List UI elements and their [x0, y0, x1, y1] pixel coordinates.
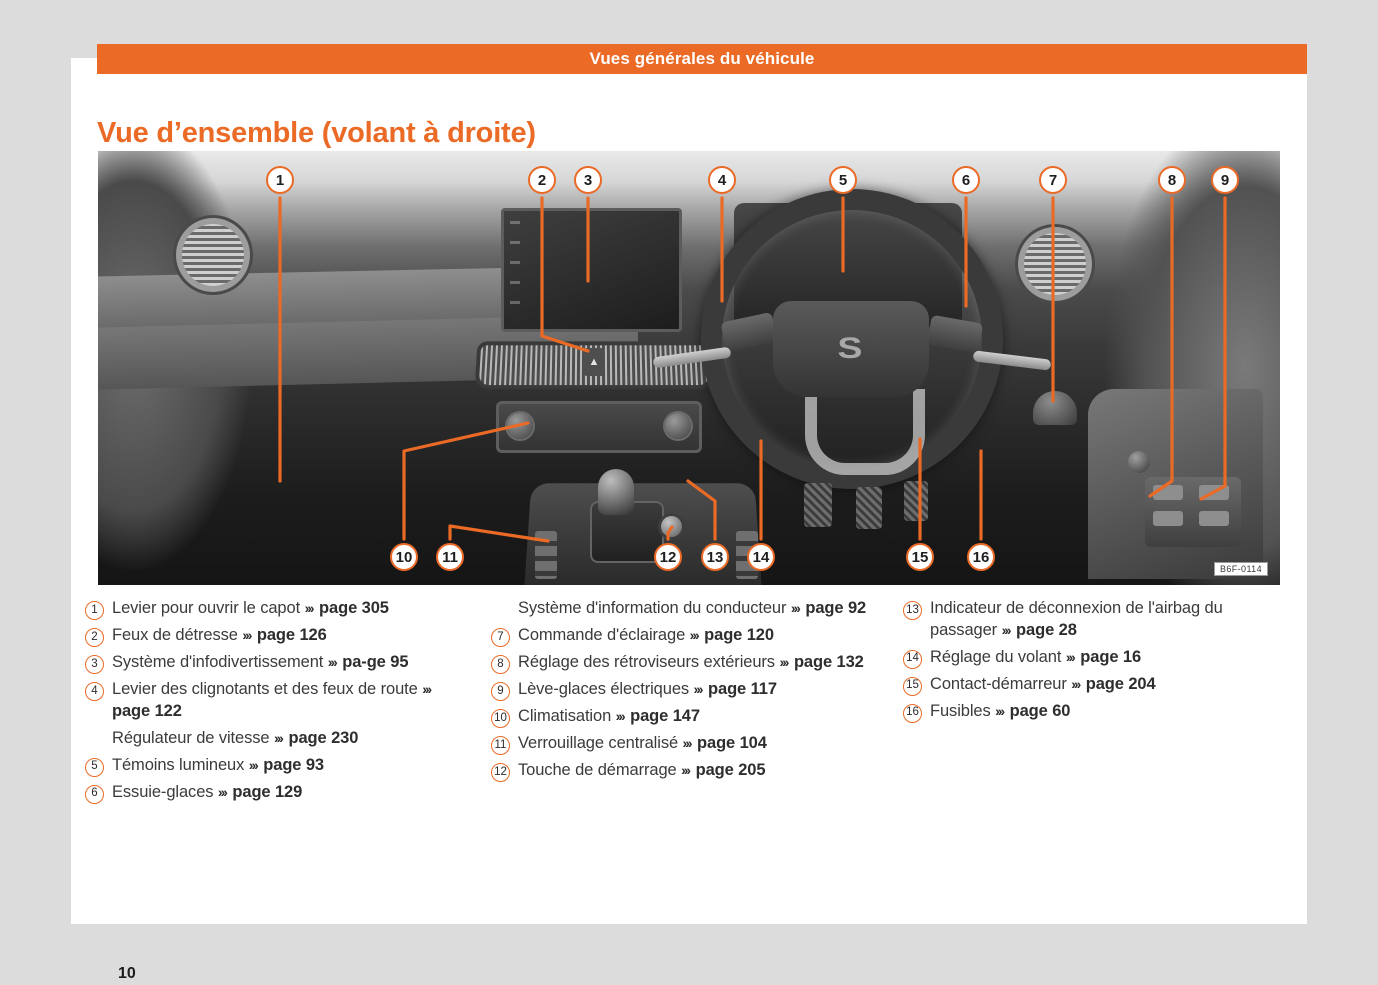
legend-item-page-reference[interactable]: page 204 — [1086, 675, 1156, 693]
legend-item-page-reference[interactable]: page 16 — [1080, 648, 1141, 666]
window-switch-panel — [1145, 477, 1241, 547]
light-rotary-switch — [1033, 391, 1077, 425]
legend-item[interactable]: Système d'information du conducteur ››› … — [491, 598, 877, 620]
legend-item-text: Régulateur de vitesse ››› page 230 — [112, 728, 358, 750]
legend-item-label: Touche de démarrage — [518, 761, 681, 779]
legend-item-text: Levier des clignotants et des feux de ro… — [112, 679, 469, 723]
legend-item-page-reference[interactable]: page 28 — [1016, 621, 1077, 639]
chevron-right-icon: ››› — [681, 762, 691, 778]
legend-item-page-reference[interactable]: page 117 — [708, 680, 777, 698]
callout-5[interactable]: 5 — [829, 166, 857, 194]
legend-item-text: Feux de détresse ››› page 126 — [112, 625, 327, 647]
legend-item-number: 11 — [491, 736, 510, 755]
chevron-right-icon: ››› — [690, 627, 700, 643]
callout-8[interactable]: 8 — [1158, 166, 1186, 194]
chevron-right-icon: ››› — [249, 757, 259, 773]
callout-9[interactable]: 9 — [1211, 166, 1239, 194]
callout-12[interactable]: 12 — [654, 543, 682, 571]
legend-item[interactable]: 11Verrouillage centralisé ››› page 104 — [491, 733, 877, 755]
climate-knob-right — [665, 413, 691, 439]
legend-item[interactable]: 6Essuie-glaces ››› page 129 — [85, 782, 469, 804]
chevron-right-icon: ››› — [1002, 622, 1012, 638]
air-vent-icon-right — [1024, 233, 1086, 295]
legend-item-number: 10 — [491, 709, 510, 728]
legend-item-page-reference[interactable]: page 120 — [704, 626, 774, 644]
legend-item-label: Climatisation — [518, 707, 616, 725]
legend-item-page-reference[interactable]: page 129 — [232, 783, 302, 801]
legend-item-text: Commande d'éclairage ››› page 120 — [518, 625, 774, 647]
climate-knob-left — [507, 413, 533, 439]
legend-item-text: Levier pour ouvrir le capot ››› page 305 — [112, 598, 389, 620]
legend-item[interactable]: Régulateur de vitesse ››› page 230 — [85, 728, 469, 750]
legend-column-2: Système d'information du conducteur ››› … — [483, 598, 891, 809]
legend-item-text: Réglage du volant ››› page 16 — [930, 647, 1141, 669]
running-header-bar: Vues générales du véhicule — [97, 44, 1307, 74]
legend-item-label: Régulateur de vitesse — [112, 729, 274, 747]
brake-pedal — [856, 487, 882, 529]
callout-1[interactable]: 1 — [266, 166, 294, 194]
legend-item[interactable]: 8Réglage des rétroviseurs extérieurs ›››… — [491, 652, 877, 674]
legend-item[interactable]: 13Indicateur de déconnexion de l'airbag … — [903, 598, 1285, 642]
legend-item[interactable]: 7Commande d'éclairage ››› page 120 — [491, 625, 877, 647]
window-switch-2 — [1199, 485, 1229, 500]
steering-wheel-lower-spoke — [805, 389, 925, 475]
steering-wheel-hub: S — [773, 301, 929, 397]
callout-11[interactable]: 11 — [436, 543, 464, 571]
legend-item-label: Témoins lumineux — [112, 756, 249, 774]
page-title: Vue d’ensemble (volant à droite) — [97, 117, 536, 150]
legend-item[interactable]: 9Lève-glaces électriques ››› page 117 — [491, 679, 877, 701]
legend-item-number: 5 — [85, 758, 104, 777]
legend-item[interactable]: 14Réglage du volant ››› page 16 — [903, 647, 1285, 669]
air-vent-icon-left — [182, 224, 244, 286]
chevron-right-icon: ››› — [1071, 676, 1081, 692]
legend: 1Levier pour ouvrir le capot ››› page 30… — [79, 598, 1299, 809]
accelerator-pedal — [904, 481, 928, 521]
manual-page: Vues générales du véhicule Vue d’ensembl… — [71, 58, 1307, 924]
legend-item-page-reference[interactable]: page 104 — [697, 734, 767, 752]
legend-item-number-placeholder — [85, 731, 104, 750]
legend-item[interactable]: 2Feux de détresse ››› page 126 — [85, 625, 469, 647]
infotainment-screen — [501, 208, 682, 332]
callout-4[interactable]: 4 — [708, 166, 736, 194]
legend-item-page-reference[interactable]: page 132 — [794, 653, 864, 671]
chevron-right-icon: ››› — [1066, 649, 1076, 665]
legend-item-text: Verrouillage centralisé ››› page 104 — [518, 733, 767, 755]
callout-14[interactable]: 14 — [747, 543, 775, 571]
callout-2[interactable]: 2 — [528, 166, 556, 194]
legend-item-page-reference[interactable]: page 122 — [112, 702, 182, 720]
chevron-right-icon: ››› — [218, 784, 228, 800]
legend-item[interactable]: 1Levier pour ouvrir le capot ››› page 30… — [85, 598, 469, 620]
legend-item-number: 15 — [903, 677, 922, 696]
chevron-right-icon: ››› — [305, 600, 315, 616]
legend-item-page-reference[interactable]: page 230 — [288, 729, 358, 747]
figure-reference-code: B6F-0114 — [1214, 562, 1268, 576]
legend-item-label: Système d'infodivertissement — [112, 653, 328, 671]
legend-item-text: Système d'infodivertissement ››› pa-ge 9… — [112, 652, 408, 674]
legend-item-number: 4 — [85, 682, 104, 701]
legend-column-3: 13Indicateur de déconnexion de l'airbag … — [891, 598, 1299, 809]
legend-item[interactable]: 10Climatisation ››› page 147 — [491, 706, 877, 728]
legend-item-page-reference[interactable]: page 93 — [263, 756, 324, 774]
legend-item-text: Essuie-glaces ››› page 129 — [112, 782, 302, 804]
legend-item-text: Fusibles ››› page 60 — [930, 701, 1070, 723]
console-switch-bank-left — [535, 531, 557, 579]
legend-item-label: Réglage des rétroviseurs extérieurs — [518, 653, 779, 671]
legend-item-text: Touche de démarrage ››› page 205 — [518, 760, 765, 782]
clutch-pedal — [804, 483, 832, 527]
callout-16[interactable]: 16 — [967, 543, 995, 571]
legend-item[interactable]: 16Fusibles ››› page 60 — [903, 701, 1285, 723]
chevron-right-icon: ››› — [683, 735, 693, 751]
legend-item-page-reference[interactable]: pa-ge 95 — [342, 653, 408, 671]
legend-item[interactable]: 3Système d'infodivertissement ››› pa-ge … — [85, 652, 469, 674]
legend-item-label: Lève-glaces électriques — [518, 680, 694, 698]
chevron-right-icon: ››› — [328, 654, 338, 670]
callout-10[interactable]: 10 — [390, 543, 418, 571]
legend-item-page-reference[interactable]: page 205 — [696, 761, 766, 779]
legend-item-text: Contact-démarreur ››› page 204 — [930, 674, 1156, 696]
chevron-right-icon: ››› — [274, 730, 284, 746]
legend-item-page-reference[interactable]: page 126 — [257, 626, 327, 644]
legend-item-page-reference[interactable]: page 92 — [805, 599, 866, 617]
callout-6[interactable]: 6 — [952, 166, 980, 194]
callout-15[interactable]: 15 — [906, 543, 934, 571]
legend-item[interactable]: 4Levier des clignotants et des feux de r… — [85, 679, 469, 723]
window-switch-4 — [1199, 511, 1229, 526]
window-switch-3 — [1153, 511, 1183, 526]
gear-lever-knob — [598, 469, 634, 515]
legend-column-1: 1Levier pour ouvrir le capot ››› page 30… — [79, 598, 483, 809]
legend-item-number: 16 — [903, 704, 922, 723]
dashboard-photo: ▲ S — [98, 151, 1280, 585]
legend-item-number: 13 — [903, 601, 922, 620]
steering-wheel: S — [701, 189, 1003, 489]
mirror-adjust-knob — [1128, 451, 1150, 473]
legend-item-label: Feux de détresse — [112, 626, 242, 644]
legend-item-text: Lève-glaces électriques ››› page 117 — [518, 679, 777, 701]
legend-item-page-reference[interactable]: page 60 — [1010, 702, 1071, 720]
dashboard-figure: ▲ S — [98, 151, 1280, 585]
legend-item-label: Fusibles — [930, 702, 995, 720]
chevron-right-icon: ››› — [694, 681, 704, 697]
legend-item-number: 3 — [85, 655, 104, 674]
legend-item-label: Contact-démarreur — [930, 675, 1071, 693]
legend-item-label: Essuie-glaces — [112, 783, 218, 801]
chevron-right-icon: ››› — [422, 681, 432, 697]
legend-item-page-reference[interactable]: page 305 — [319, 599, 389, 617]
chevron-right-icon: ››› — [242, 627, 252, 643]
engine-start-button — [661, 516, 682, 537]
legend-item[interactable]: 5Témoins lumineux ››› page 93 — [85, 755, 469, 777]
callout-3[interactable]: 3 — [574, 166, 602, 194]
legend-item-number: 1 — [85, 601, 104, 620]
page-number: 10 — [118, 965, 136, 983]
legend-item-number: 7 — [491, 628, 510, 647]
legend-item-label: Réglage du volant — [930, 648, 1066, 666]
legend-item-number-placeholder — [491, 601, 510, 620]
legend-item-number: 12 — [491, 763, 510, 782]
callout-7[interactable]: 7 — [1039, 166, 1067, 194]
legend-item-number: 6 — [85, 785, 104, 804]
legend-item-text: Système d'information du conducteur ››› … — [518, 598, 866, 620]
legend-item[interactable]: 12Touche de démarrage ››› page 205 — [491, 760, 877, 782]
legend-item-label: Levier pour ouvrir le capot — [112, 599, 305, 617]
legend-item-number: 14 — [903, 650, 922, 669]
window-switch-1 — [1153, 485, 1183, 500]
legend-item-text: Indicateur de déconnexion de l'airbag du… — [930, 598, 1285, 642]
climate-control-panel — [496, 401, 702, 453]
legend-item-number: 8 — [491, 655, 510, 674]
chevron-right-icon: ››› — [995, 703, 1005, 719]
legend-item-text: Climatisation ››› page 147 — [518, 706, 700, 728]
callout-13[interactable]: 13 — [701, 543, 729, 571]
hazard-lights-button: ▲ — [584, 348, 604, 376]
legend-item-label: Système d'information du conducteur — [518, 599, 791, 617]
chevron-right-icon: ››› — [791, 600, 801, 616]
legend-item-label: Commande d'éclairage — [518, 626, 690, 644]
infotainment-side-buttons — [510, 221, 520, 319]
legend-item-label: Verrouillage centralisé — [518, 734, 683, 752]
running-header-text: Vues générales du véhicule — [590, 49, 815, 69]
chevron-right-icon: ››› — [616, 708, 626, 724]
legend-item-number: 2 — [85, 628, 104, 647]
seat-brand-logo: S — [838, 332, 864, 366]
legend-item-label: Levier des clignotants et des feux de ro… — [112, 680, 422, 698]
legend-item-number: 9 — [491, 682, 510, 701]
legend-item-page-reference[interactable]: page 147 — [630, 707, 700, 725]
legend-item-text: Réglage des rétroviseurs extérieurs ››› … — [518, 652, 864, 674]
legend-item-text: Témoins lumineux ››› page 93 — [112, 755, 324, 777]
legend-item[interactable]: 15Contact-démarreur ››› page 204 — [903, 674, 1285, 696]
chevron-right-icon: ››› — [779, 654, 789, 670]
